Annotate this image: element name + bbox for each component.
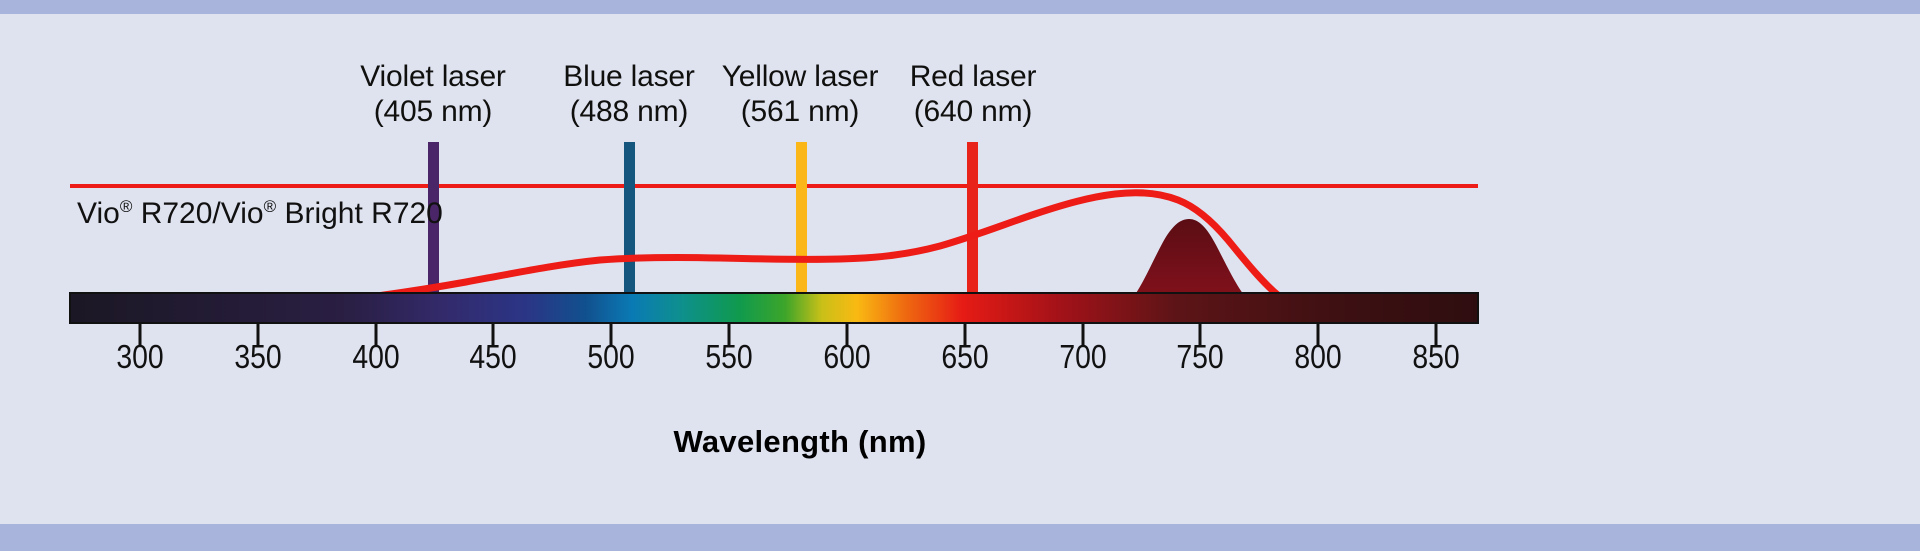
bottom-decorative-band: [0, 524, 1920, 551]
laser-wavelength-red: (640 nm): [910, 94, 1037, 129]
xtick-label-450: 450: [469, 340, 516, 373]
laser-wavelength-blue: (488 nm): [563, 94, 694, 129]
registered-mark-icon-2: ®: [264, 197, 277, 216]
xtick-label-350: 350: [234, 340, 281, 373]
spectra-viewer-figure: Violet laser (405 nm) Blue laser (488 nm…: [0, 0, 1920, 551]
dye-label: Vio® R720/Vio® Bright R720: [77, 198, 443, 230]
xtick-label-400: 400: [352, 340, 399, 373]
dye-label-part-b: R720/Vio: [132, 197, 263, 230]
xtick-label-800: 800: [1294, 340, 1341, 373]
registered-mark-icon-1: ®: [120, 197, 133, 216]
laser-wavelength-yellow: (561 nm): [722, 94, 879, 129]
laser-name-yellow: Yellow laser: [722, 59, 879, 94]
laser-name-red: Red laser: [910, 59, 1037, 94]
x-axis-title: Wavelength (nm): [0, 424, 1760, 460]
dye-label-part-a: Vio: [77, 197, 120, 230]
xtick-label-300: 300: [116, 340, 163, 373]
laser-label-yellow: Yellow laser (561 nm): [722, 59, 879, 129]
axis-ticks-group: [140, 323, 1436, 345]
xtick-label-600: 600: [823, 340, 870, 373]
xtick-label-750: 750: [1176, 340, 1223, 373]
xtick-label-850: 850: [1412, 340, 1459, 373]
spectrum-color-bar: [70, 293, 1478, 323]
xtick-label-650: 650: [941, 340, 988, 373]
xtick-label-500: 500: [587, 340, 634, 373]
laser-name-violet: Violet laser: [360, 59, 505, 94]
top-decorative-band: [0, 0, 1920, 14]
laser-label-blue: Blue laser (488 nm): [563, 59, 694, 129]
dye-label-part-c: Bright R720: [276, 197, 443, 230]
xtick-label-700: 700: [1059, 340, 1106, 373]
laser-name-blue: Blue laser: [563, 59, 694, 94]
laser-label-red: Red laser (640 nm): [910, 59, 1037, 129]
laser-wavelength-violet: (405 nm): [360, 94, 505, 129]
laser-label-violet: Violet laser (405 nm): [360, 59, 505, 129]
xtick-label-550: 550: [705, 340, 752, 373]
